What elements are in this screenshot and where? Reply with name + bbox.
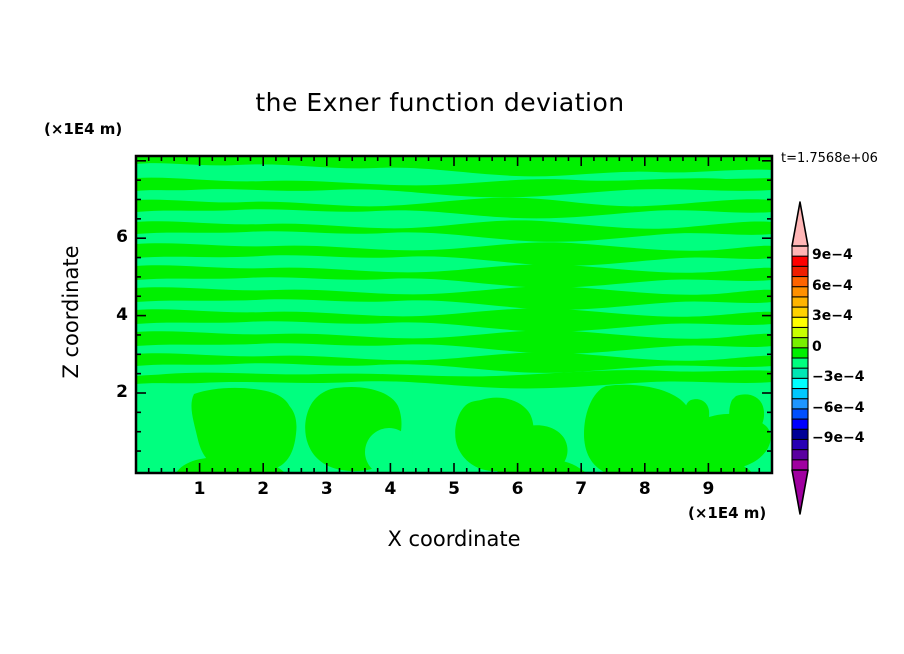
x-tick-label: 7 [566, 479, 596, 499]
axes-frame [0, 0, 904, 654]
colorbar-band [792, 246, 808, 257]
x-tick-label: 8 [630, 479, 660, 499]
colorbar-tick-label: 0 [812, 339, 822, 355]
y-tick-label: 2 [98, 382, 128, 402]
colorbar-band [792, 277, 808, 288]
colorbar-band [792, 439, 808, 450]
colorbar-band [792, 287, 808, 298]
x-tick-label: 3 [312, 479, 342, 499]
colorbar-band [792, 450, 808, 461]
x-tick-label: 6 [503, 479, 533, 499]
x-tick-label: 2 [248, 479, 278, 499]
colorbar-band [792, 256, 808, 267]
colorbar-band [792, 389, 808, 400]
colorbar-band [792, 419, 808, 430]
colorbar-band [792, 368, 808, 379]
colorbar-tick-label: 6e−4 [812, 278, 853, 294]
colorbar [778, 198, 822, 518]
y-tick-label: 4 [98, 305, 128, 325]
colorbar-band [792, 266, 808, 277]
x-tick-label: 1 [185, 479, 215, 499]
colorbar-tick-label: 9e−4 [812, 247, 853, 263]
colorbar-band [792, 307, 808, 318]
x-tick-label: 9 [693, 479, 723, 499]
colorbar-band [792, 358, 808, 369]
y-tick-label: 6 [98, 227, 128, 247]
colorbar-band [792, 460, 808, 471]
colorbar-band [792, 429, 808, 440]
colorbar-band [792, 317, 808, 328]
colorbar-tick-label: −3e−4 [812, 369, 864, 385]
colorbar-tick-label: −6e−4 [812, 400, 864, 416]
colorbar-band [792, 409, 808, 420]
colorbar-band [792, 338, 808, 349]
colorbar-tick-label: −9e−4 [812, 430, 864, 446]
colorbar-tick-label: 3e−4 [812, 308, 853, 324]
colorbar-band [792, 378, 808, 389]
x-tick-label: 5 [439, 479, 469, 499]
x-tick-label: 4 [375, 479, 405, 499]
colorbar-band [792, 327, 808, 338]
figure-canvas: the Exner function deviation (×1E4 m) (×… [0, 0, 904, 654]
colorbar-band [792, 348, 808, 359]
colorbar-band [792, 399, 808, 410]
colorbar-band [792, 297, 808, 308]
